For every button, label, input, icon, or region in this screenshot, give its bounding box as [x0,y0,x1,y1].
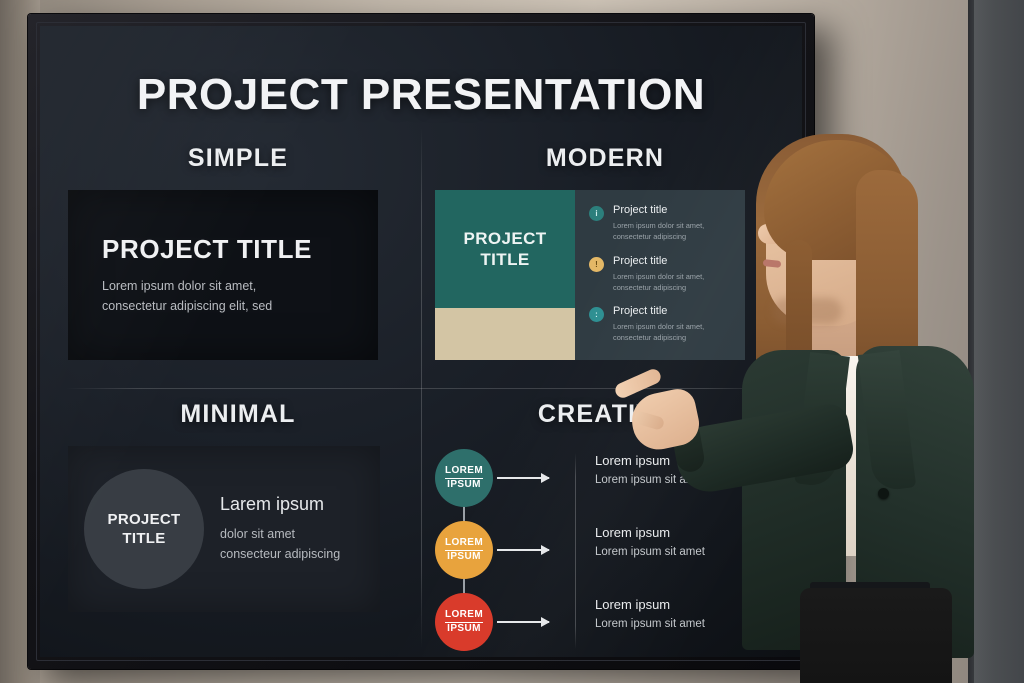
minimal-sub-line-1: dolor sit amet [220,524,340,544]
minimal-subtext: dolor sit amet consecteur adipiscing [220,524,340,565]
step-word-top: LOREM [445,609,483,624]
modern-color-blocks: PROJECT TITLE [435,190,575,360]
quadrant-simple[interactable]: SIMPLE PROJECT TITLE Lorem ipsum dolor s… [68,144,408,360]
list-item[interactable]: LOREM IPSUM [435,449,549,507]
minimal-text-block: Larem ipsum dolor sit amet consecteur ad… [220,494,340,565]
alert-bullet-icon: ! [589,257,604,272]
quadrant-label-simple: SIMPLE [68,144,408,173]
minimal-card[interactable]: PROJECT TITLE Larem ipsum dolor sit amet… [68,446,380,612]
minimal-heading: Larem ipsum [220,494,340,515]
step-word-top: LOREM [445,537,483,552]
step-word-top: LOREM [445,465,483,480]
step-circle-label: LOREM IPSUM [445,537,483,564]
presenter-trousers [800,588,952,683]
modern-block-title-line-1: PROJECT [463,229,546,248]
step-word-bottom: IPSUM [447,623,481,634]
simple-body-line-1: Lorem ipsum dolor sit amet, [102,277,322,296]
dots-bullet-icon: : [589,307,604,322]
step-word-bottom: IPSUM [447,551,481,562]
simple-card[interactable]: PROJECT TITLE Lorem ipsum dolor sit amet… [68,190,378,360]
arrow-right-icon [497,549,549,551]
quadrant-label-minimal: MINIMAL [68,400,408,429]
slide-title: PROJECT PRESENTATION [40,70,802,120]
minimal-circle-title-line-2: TITLE [122,530,165,547]
creative-vertical-divider [575,453,576,649]
minimal-circle-shape: PROJECT TITLE [84,469,204,589]
arrow-right-icon [497,477,549,479]
modern-block-title-line-2: TITLE [480,250,529,269]
step-circle-1[interactable]: LOREM IPSUM [435,449,493,507]
step-circle-label: LOREM IPSUM [445,609,483,636]
list-item[interactable]: LOREM IPSUM [435,521,549,579]
minimal-circle-title-line-1: PROJECT [108,511,181,528]
info-bullet-icon: i [589,206,604,221]
simple-card-body: Lorem ipsum dolor sit amet, consectetur … [102,277,322,316]
step-circle-2[interactable]: LOREM IPSUM [435,521,493,579]
arrow-right-icon [497,621,549,623]
modern-teal-block: PROJECT TITLE [435,190,575,308]
presenter-person [660,120,990,683]
minimal-sub-line-2: consecteur adipiscing [220,544,340,564]
simple-card-title: PROJECT TITLE [102,234,378,265]
step-circle-3[interactable]: LOREM IPSUM [435,593,493,651]
list-item[interactable]: LOREM IPSUM [435,593,549,651]
room-scene: PROJECT PRESENTATION SIMPLE PROJECT TITL… [0,0,1024,683]
step-circle-label: LOREM IPSUM [445,465,483,492]
simple-body-line-2: consectetur adipiscing elit, sed [102,297,322,316]
quadrant-minimal[interactable]: MINIMAL PROJECT TITLE Larem ipsum dolor … [68,400,408,612]
modern-block-title: PROJECT TITLE [463,228,546,271]
modern-beige-block [435,308,575,360]
step-word-bottom: IPSUM [447,479,481,490]
presenter-jacket-button [878,488,889,499]
minimal-circle-title: PROJECT TITLE [108,510,181,549]
